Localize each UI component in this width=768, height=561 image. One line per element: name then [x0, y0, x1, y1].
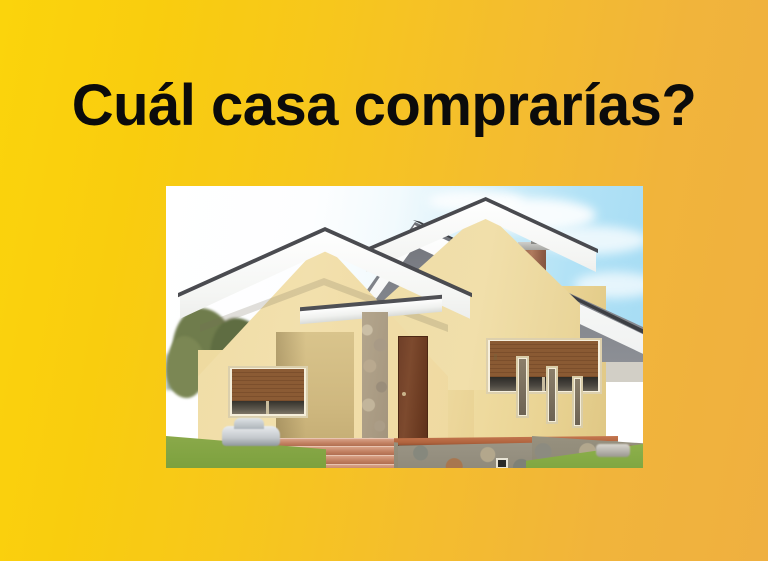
page-title: Cuál casa comprarías?	[0, 74, 768, 138]
door-handle	[402, 392, 406, 396]
parked-car	[596, 444, 630, 457]
window-main-shutter	[490, 341, 598, 377]
window-narrow-side	[516, 356, 529, 418]
slide: Cuál casa comprarías?	[0, 0, 768, 561]
wall-marking	[494, 354, 497, 360]
foundation-vent	[496, 458, 508, 468]
window-main-mullion	[542, 377, 545, 391]
window-left-shutter	[232, 369, 304, 401]
parked-car	[222, 426, 280, 446]
window-narrow-side	[572, 376, 583, 428]
window-left-mullion	[266, 401, 269, 414]
window-narrow-side	[546, 366, 558, 424]
house-photo	[166, 186, 643, 468]
